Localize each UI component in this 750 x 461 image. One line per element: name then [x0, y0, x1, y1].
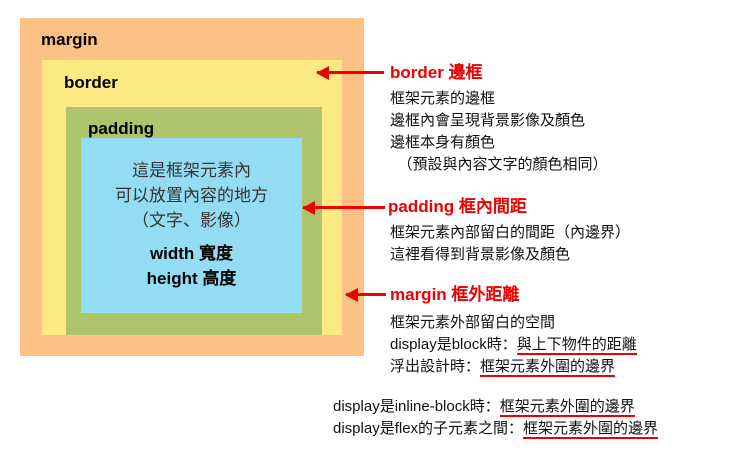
margin-line5-prefix: display是flex的子元素之間： [333, 420, 523, 437]
margin-annotation-body: 框架元素外部留白的空間 display是block時：與上下物件的距離 浮出設計… [390, 312, 637, 378]
border-annotation-line: 框架元素的邊框 [390, 88, 608, 110]
margin-line3-prefix: 浮出設計時： [390, 358, 480, 375]
content-line: 可以放置內容的地方 [115, 183, 268, 208]
content-line: 這是框架元素內 [132, 158, 251, 183]
margin-annotation-line: 浮出設計時：框架元素外圍的邊界 [390, 356, 637, 378]
content-width-label: width 寬度 [150, 241, 233, 266]
margin-line2-underlined: 與上下物件的距離 [517, 336, 637, 355]
margin-arrow-icon [346, 293, 386, 296]
margin-annotation-line: display是flex的子元素之間：框架元素外圍的邊界 [333, 418, 658, 440]
margin-line5-underlined: 框架元素外圍的邊界 [523, 420, 658, 439]
padding-box-label: padding [88, 120, 154, 137]
margin-annotation-line: display是inline-block時：框架元素外圍的邊界 [333, 396, 658, 418]
border-box-region: border padding 這是框架元素內 可以放置內容的地方 （文字、影像）… [42, 60, 342, 335]
content-height-label: height 高度 [147, 266, 237, 291]
margin-annotation-heading: margin 框外距離 [390, 286, 519, 303]
margin-annotation-line: 框架元素外部留白的空間 [390, 312, 637, 334]
border-annotation-line: 邊框本身有顏色 [390, 132, 608, 154]
border-arrow-icon [317, 71, 384, 74]
margin-line2-prefix: display是block時： [390, 336, 517, 353]
margin-annotation-body-2: display是inline-block時：框架元素外圍的邊界 display是… [333, 396, 658, 440]
border-annotation-line: 邊框內會呈現背景影像及顏色 [390, 110, 608, 132]
content-line: （文字、影像） [132, 208, 251, 233]
border-annotation-heading: border 邊框 [390, 64, 483, 81]
border-annotation-body: 框架元素的邊框 邊框內會呈現背景影像及顏色 邊框本身有顏色 （預設與內容文字的顏… [390, 88, 608, 176]
margin-annotation-line: display是block時：與上下物件的距離 [390, 334, 637, 356]
padding-box-region: padding 這是框架元素內 可以放置內容的地方 （文字、影像） width … [66, 107, 322, 335]
margin-line4-prefix: display是inline-block時： [333, 398, 500, 415]
border-box-label: border [64, 74, 118, 91]
margin-box-label: margin [41, 31, 98, 48]
padding-annotation-body: 框架元素內部留白的間距（內邊界） 這裡看得到背景影像及顏色 [390, 222, 630, 266]
border-annotation-line: （預設與內容文字的顏色相同） [390, 154, 608, 176]
padding-annotation-heading: padding 框內間距 [388, 198, 527, 215]
padding-annotation-line: 這裡看得到背景影像及顏色 [390, 244, 630, 266]
content-box-region: 這是框架元素內 可以放置內容的地方 （文字、影像） width 寬度 heigh… [81, 138, 302, 313]
margin-line3-underlined: 框架元素外圍的邊界 [480, 358, 615, 377]
padding-arrow-icon [303, 206, 385, 209]
margin-line4-underlined: 框架元素外圍的邊界 [500, 398, 635, 417]
padding-annotation-line: 框架元素內部留白的間距（內邊界） [390, 222, 630, 244]
box-model-diagram: margin border padding 這是框架元素內 可以放置內容的地方 … [20, 18, 364, 356]
